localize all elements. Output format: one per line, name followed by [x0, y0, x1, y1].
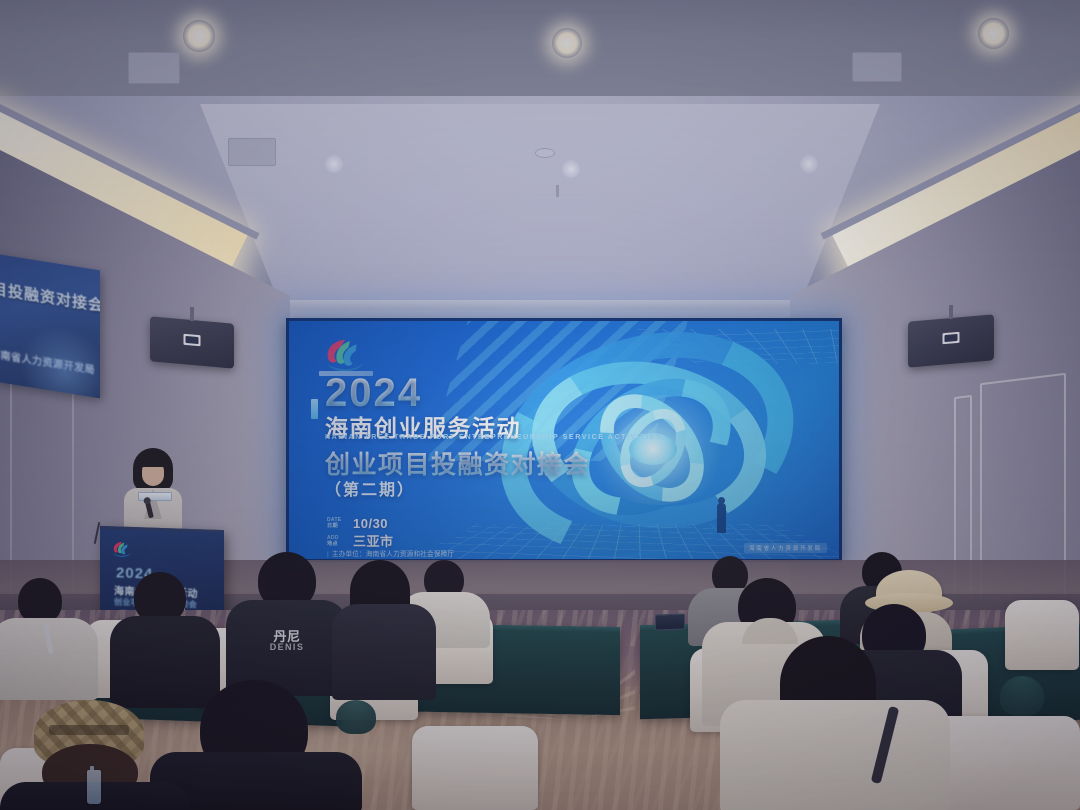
presenter-at-podium: [120, 448, 186, 534]
person-silhouette-icon: [717, 503, 726, 533]
jbl-logo-icon: [184, 334, 201, 346]
sprinkler-icon: [556, 185, 559, 197]
wall-speaker-right: [908, 314, 994, 368]
ceiling-air-vent: [852, 52, 902, 82]
recessed-spotlight: [325, 155, 343, 173]
screen-place-row: ADD 地点 三亚市: [327, 535, 394, 548]
wall-speaker-left: [150, 316, 234, 368]
screen-accent-bar: [311, 399, 318, 419]
screen-year: 2024: [325, 373, 422, 413]
screen-organizers: |主办单位：海南省人力资源和社会保障厅 |承办单位：海南省人力资源开发局: [327, 549, 454, 559]
jbl-logo-icon: [943, 332, 960, 344]
water-bottle: [87, 770, 101, 804]
recessed-spotlight: [800, 155, 818, 173]
attendee-torso: [332, 604, 436, 700]
ceiling-soffit: [0, 0, 1080, 100]
organizer-text: 主办单位：海南省人力资源和社会保障厅: [332, 551, 454, 558]
led-screen-frame: 2024 海南创业服务活动 HAINAN FREE TRADE PORT ENT…: [286, 318, 842, 562]
attendee-torso: [720, 700, 950, 810]
screen-date-label: DATE 日期: [327, 518, 347, 530]
ceiling-downlight: [552, 28, 582, 58]
screen-place-label: ADD 地点: [327, 536, 347, 548]
banner-line-2: 海南省人力资源开发局: [0, 345, 100, 378]
smoke-detector-icon: [535, 148, 555, 158]
hanging-banner: 目投融资对接会 海南省人力资源开发局: [0, 254, 100, 399]
date-label-cn: 日期: [327, 524, 347, 530]
speaker-mount-bracket: [949, 305, 953, 319]
presenter-fringe: [139, 456, 167, 467]
screen-place-value: 三亚市: [353, 535, 394, 548]
cap-adjuster-strap: [49, 725, 128, 735]
screen-date-value: 10/30: [353, 517, 388, 530]
chair-sash: [336, 700, 376, 734]
audience-chair: [930, 716, 1080, 810]
speaker-mount-bracket: [190, 307, 194, 321]
shirt-text-en: DENIS: [226, 642, 348, 652]
attendee-torso: [110, 616, 220, 708]
ceiling-flat-panel: [200, 104, 880, 309]
recessed-spotlight: [562, 160, 580, 178]
ceiling-air-vent: [228, 138, 276, 166]
audience-chair: [1005, 600, 1079, 670]
hainan-event-logo-icon: [320, 337, 370, 375]
organizer-line: |主办单位：海南省人力资源和社会保障厅: [327, 549, 454, 559]
screen-title-en: HAINAN FREE TRADE PORT ENTREPRENEURSHIP …: [325, 433, 662, 441]
chair-sash: [1000, 676, 1044, 716]
place-label-cn: 地点: [327, 542, 347, 548]
ceiling-downlight: [978, 18, 1009, 49]
screen-corner-badge: 海南省人力资源开发局: [744, 543, 827, 553]
ceiling-air-vent: [128, 52, 180, 84]
led-screen: 2024 海南创业服务活动 HAINAN FREE TRADE PORT ENT…: [289, 321, 839, 559]
ceiling-downlight: [183, 20, 215, 52]
banner-line-1: 目投融资对接会: [0, 277, 100, 315]
podium-logo-icon: [110, 540, 134, 559]
screen-date-row: DATE 日期 10/30: [327, 517, 394, 530]
conference-hall-scene: 目投融资对接会 海南省人力资源开发局: [0, 0, 1080, 810]
laptop-on-table: [655, 613, 685, 630]
screen-edition: （第二期）: [325, 476, 415, 500]
audience-chair: [412, 726, 538, 810]
screen-meta-block: DATE 日期 10/30 ADD 地点 三亚市: [327, 517, 394, 553]
bullet-icon: |: [327, 551, 329, 558]
